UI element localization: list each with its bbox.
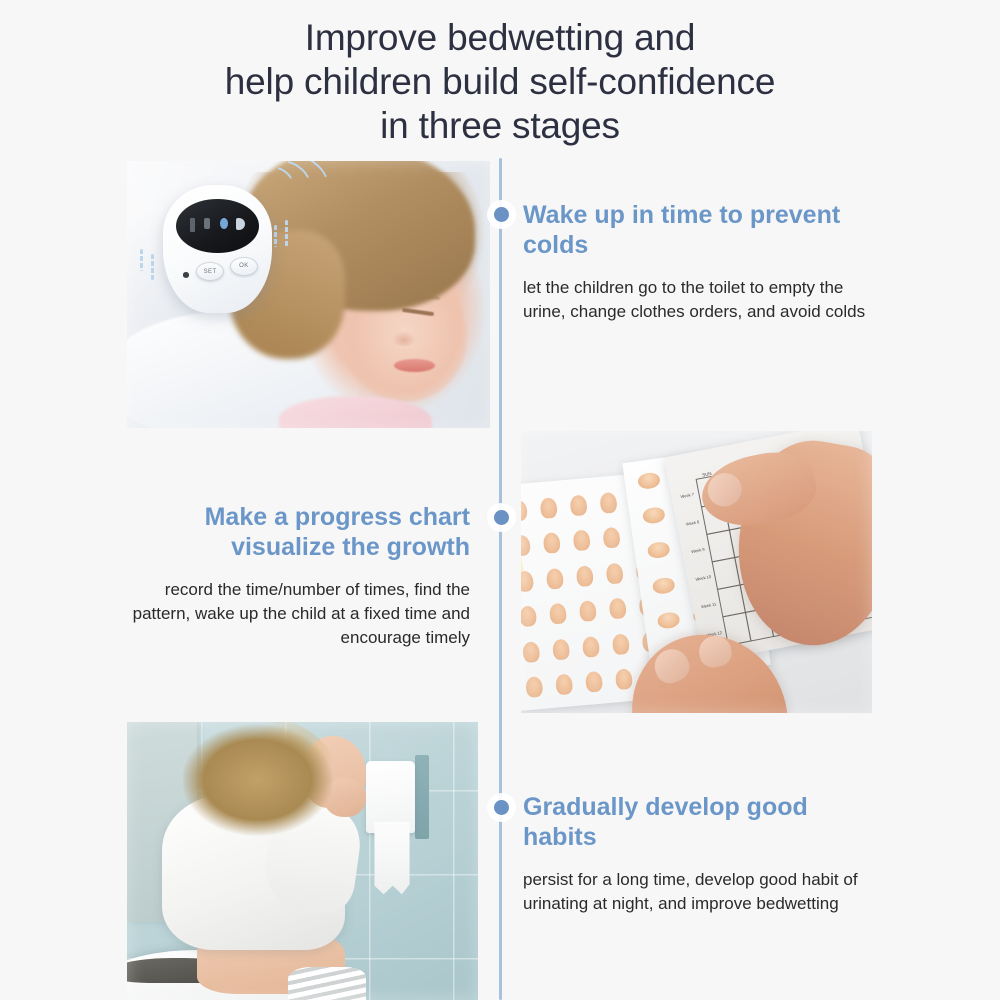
- bear-sticker: [522, 641, 540, 663]
- section-1-heading: Wake up in time to prevent colds: [523, 200, 873, 260]
- bear-sticker: [605, 562, 623, 584]
- page-title-line-1: Improve bedwetting and: [0, 16, 1000, 60]
- child-nose: [392, 331, 416, 346]
- bear-sticker: [582, 636, 600, 658]
- bear-sticker: [555, 674, 573, 696]
- page-title-line-3: in three stages: [0, 104, 1000, 148]
- bear-sticker: [636, 471, 660, 489]
- section-2-heading: Make a progress chart visualize the grow…: [130, 502, 470, 562]
- lowered-pants: [288, 967, 365, 1000]
- bear-sticker: [579, 600, 597, 622]
- bear-sticker: [608, 598, 626, 620]
- battery-icon: [190, 218, 196, 232]
- vibration-icon-left-1: [140, 249, 143, 271]
- bear-sticker: [646, 541, 670, 559]
- bell-icon: [204, 218, 211, 229]
- moisture-icon: [220, 218, 227, 229]
- bear-sticker: [572, 530, 590, 552]
- photo-alarm-device: SET OK: [127, 161, 490, 428]
- vibration-icon-left-2: [151, 254, 154, 280]
- fingernail: [650, 645, 694, 688]
- week-label: Week 9: [691, 546, 705, 553]
- bear-sticker: [569, 494, 587, 516]
- volume-icon: [236, 218, 245, 230]
- bear-sticker: [521, 606, 537, 628]
- bear-sticker: [521, 535, 531, 557]
- bear-sticker: [539, 497, 557, 519]
- vibration-icon-right-1: [274, 225, 277, 247]
- alarm-device: SET OK: [163, 185, 272, 313]
- timeline-dot-1: [494, 207, 509, 222]
- week-label: Week 10: [696, 574, 712, 582]
- bear-sticker: [615, 669, 633, 691]
- vibration-icon-right-2: [285, 220, 288, 248]
- section-3-heading: Gradually develop good habits: [523, 792, 878, 852]
- child-lips: [394, 359, 434, 372]
- bear-sticker: [656, 611, 680, 629]
- bear-sticker: [542, 532, 560, 554]
- page-title-line-2: help children build self-confidence: [0, 60, 1000, 104]
- bear-sticker: [612, 633, 630, 655]
- bear-sticker: [525, 676, 543, 698]
- bear-sticker: [552, 638, 570, 660]
- week-label: Week 11: [701, 601, 717, 609]
- bear-sticker: [545, 568, 563, 590]
- section-3-body: persist for a long time, develop good ha…: [523, 868, 878, 916]
- device-screen: [176, 199, 259, 253]
- section-2-text: Make a progress chart visualize the grow…: [130, 502, 470, 650]
- device-ok-button: OK: [230, 257, 258, 276]
- section-1-text: Wake up in time to prevent colds let the…: [523, 200, 873, 324]
- bear-sticker: [521, 570, 534, 592]
- timeline-dot-2: [494, 510, 509, 525]
- bear-sticker: [641, 506, 665, 524]
- bear-sticker: [602, 527, 620, 549]
- section-1-body: let the children go to the toilet to emp…: [523, 276, 873, 324]
- toilet-paper-holder: [415, 755, 429, 838]
- page-title: Improve bedwetting and help children bui…: [0, 16, 1000, 148]
- week-label: Week 8: [686, 519, 700, 526]
- photo-child-toilet: [127, 722, 478, 1000]
- bear-sticker: [599, 492, 617, 514]
- bear-sticker: [585, 671, 603, 693]
- bear-sticker: [521, 499, 528, 521]
- device-set-button: SET: [196, 262, 224, 281]
- section-2-body: record the time/number of times, find th…: [130, 578, 470, 650]
- bear-sticker: [575, 565, 593, 587]
- toilet-paper-sheet: [374, 822, 409, 894]
- fingernail: [697, 633, 735, 670]
- section-3-text: Gradually develop good habits persist fo…: [523, 792, 878, 916]
- bear-sticker: [651, 576, 675, 594]
- timeline-dot-3: [494, 800, 509, 815]
- infographic-page: Improve bedwetting and help children bui…: [0, 0, 1000, 1000]
- photo-progress-chart: Dry Wet SUN MON TUE WED THU FRI SAT Week…: [521, 431, 872, 713]
- device-led-indicator: [183, 272, 190, 277]
- bear-sticker: [549, 603, 567, 625]
- week-label: Week 7: [681, 491, 695, 498]
- child-curly-hair: [183, 722, 337, 839]
- timeline-line: [499, 158, 502, 1000]
